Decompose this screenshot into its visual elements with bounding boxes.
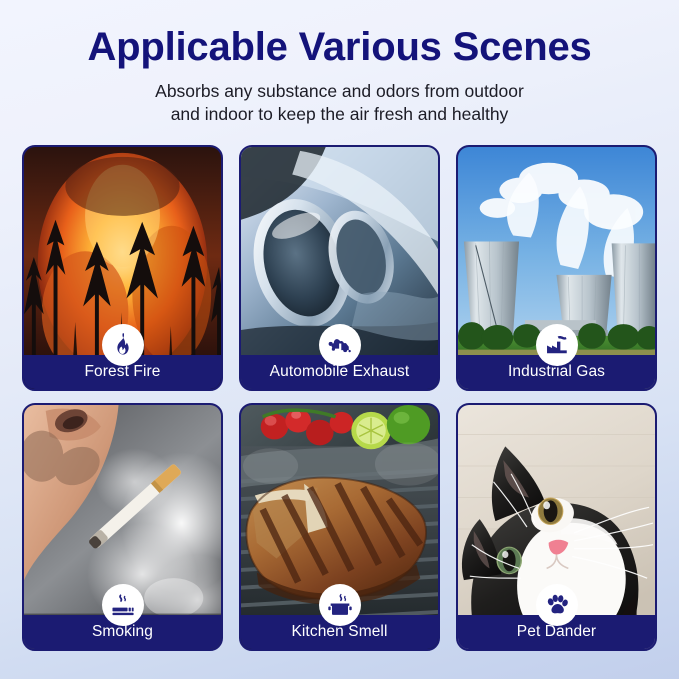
cooking-pot-icon — [319, 584, 361, 626]
scene-showcase-page: Applicable Various Scenes Absorbs any su… — [0, 0, 679, 679]
page-title: Applicable Various Scenes — [0, 26, 679, 69]
card-label: Kitchen Smell — [291, 624, 387, 641]
scene-card-kitchen-smell[interactable]: Kitchen Smell — [239, 403, 440, 651]
paw-print-icon — [536, 584, 578, 626]
page-header: Applicable Various Scenes Absorbs any su… — [0, 0, 679, 127]
scene-card-pet-dander[interactable]: Pet Dander — [456, 403, 657, 651]
card-label: Pet Dander — [517, 624, 596, 641]
card-label: Industrial Gas — [508, 364, 605, 381]
car-exhaust-icon — [319, 324, 361, 366]
cigarette-icon — [102, 584, 144, 626]
subtitle-line-2: and indoor to keep the air fresh and hea… — [70, 103, 610, 126]
scene-card-smoking[interactable]: Smoking — [22, 403, 223, 651]
subtitle-line-1: Absorbs any substance and odors from out… — [70, 80, 610, 103]
page-subtitle: Absorbs any substance and odors from out… — [70, 80, 610, 127]
scene-card-grid: Forest Fire — [22, 145, 657, 651]
scene-card-industrial-gas[interactable]: Industrial Gas — [456, 145, 657, 391]
factory-icon — [536, 324, 578, 366]
flame-icon — [102, 324, 144, 366]
card-label: Smoking — [92, 624, 153, 641]
card-label: Forest Fire — [84, 364, 160, 381]
card-label: Automobile Exhaust — [270, 364, 410, 381]
scene-card-automobile-exhaust[interactable]: Automobile Exhaust — [239, 145, 440, 391]
scene-card-forest-fire[interactable]: Forest Fire — [22, 145, 223, 391]
